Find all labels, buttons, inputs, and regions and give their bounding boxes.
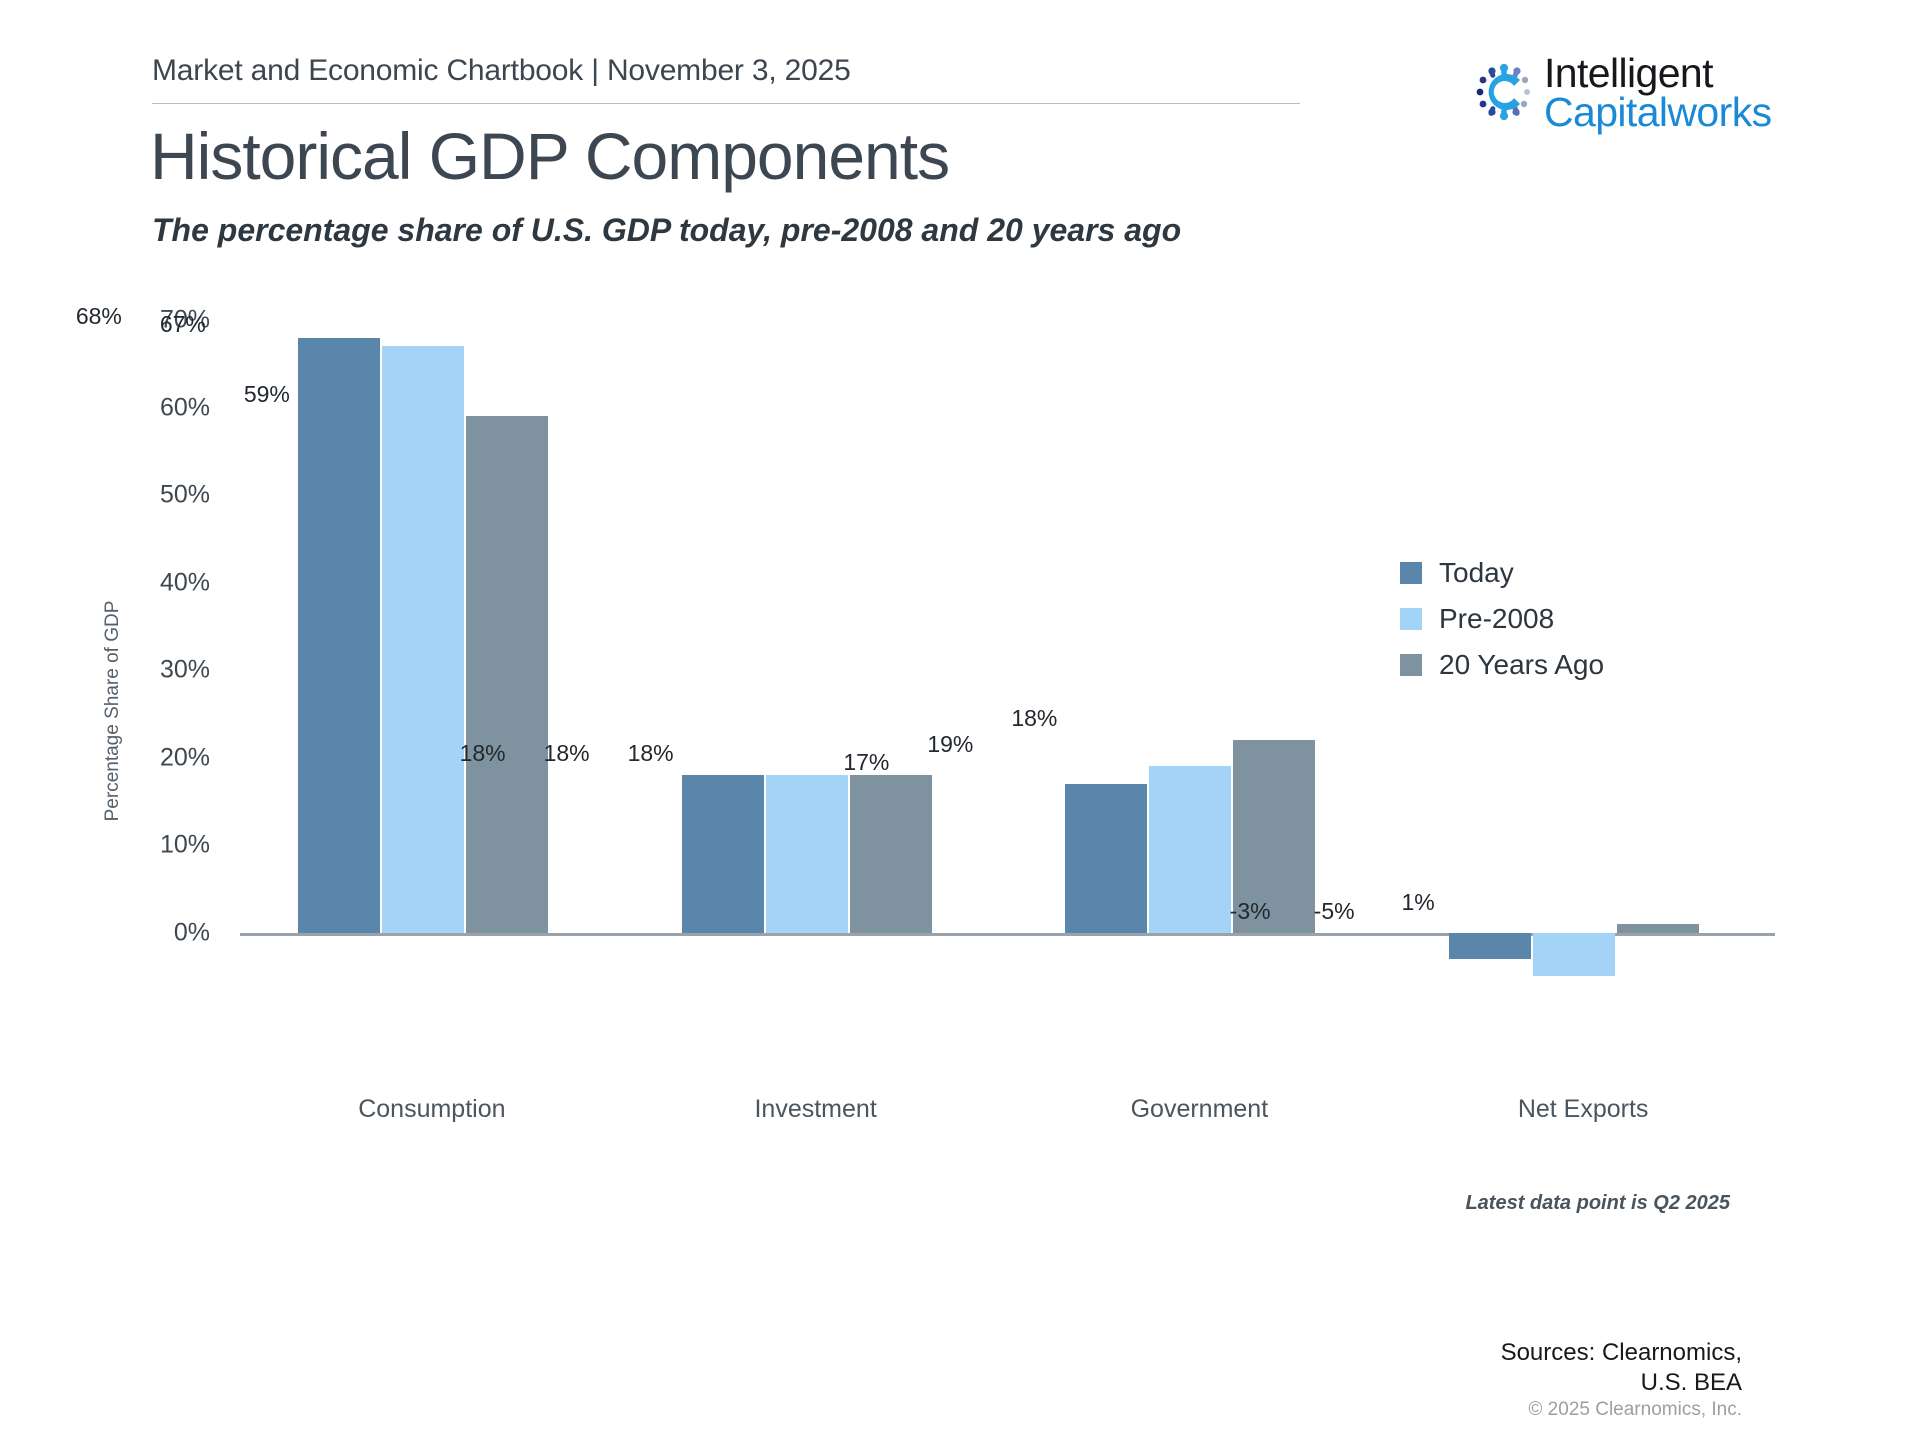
sources-line-2: U.S. BEA [1501,1368,1742,1398]
legend-swatch-icon [1400,562,1422,584]
legend-label: 20 Years Ago [1439,649,1604,681]
legend-label: Today [1439,557,1514,589]
bar-value-label: 18% [592,740,710,767]
bar[interactable] [682,775,764,933]
bar-value-label: 59% [208,381,326,408]
chart-page: Market and Economic Chartbook | November… [0,0,1920,1440]
bar-value-label: 67% [124,311,242,338]
chart-legend: TodayPre-200820 Years Ago [1400,550,1604,688]
x-category-label: Investment [624,1095,1008,1124]
y-tick-label: 50% [90,481,210,510]
bar-value-label: 1% [1359,889,1477,916]
bar-value-label: 19% [891,731,1009,758]
y-tick-label: 20% [90,743,210,772]
y-tick-label: 30% [90,656,210,685]
legend-label: Pre-2008 [1439,603,1554,635]
legend-item[interactable]: Pre-2008 [1400,596,1604,642]
sources-line-1: Sources: Clearnomics, [1501,1338,1742,1368]
bar-group [682,320,934,1020]
legend-item[interactable]: 20 Years Ago [1400,642,1604,688]
bar[interactable] [766,775,848,933]
legend-item[interactable]: Today [1400,550,1604,596]
bar-value-label: 18% [975,705,1093,732]
gdp-components-bar-chart: Percentage Share of GDP 70%60%50%40%30%2… [0,0,1920,1440]
y-tick-label: 60% [90,393,210,422]
y-tick-label: 40% [90,568,210,597]
sources-note: Sources: Clearnomics, U.S. BEA [1501,1338,1742,1399]
bar[interactable] [466,416,548,932]
bar[interactable] [850,775,932,933]
latest-data-note: Latest data point is Q2 2025 [1465,1192,1730,1215]
copyright-note: © 2025 Clearnomics, Inc. [1528,1399,1742,1421]
bar-group [298,320,550,1020]
legend-swatch-icon [1400,654,1422,676]
bar[interactable] [1617,924,1699,933]
x-category-label: Net Exports [1391,1095,1775,1124]
bar[interactable] [1449,933,1531,959]
bar[interactable] [382,346,464,932]
x-category-label: Consumption [240,1095,624,1124]
bar[interactable] [1065,784,1147,933]
bar[interactable] [1533,933,1615,977]
y-tick-label: 0% [90,918,210,947]
x-category-label: Government [1008,1095,1392,1124]
bar[interactable] [298,338,380,933]
legend-swatch-icon [1400,608,1422,630]
y-axis-ticks: 70%60%50%40%30%20%10%0% [80,0,210,1440]
y-tick-label: 10% [90,831,210,860]
